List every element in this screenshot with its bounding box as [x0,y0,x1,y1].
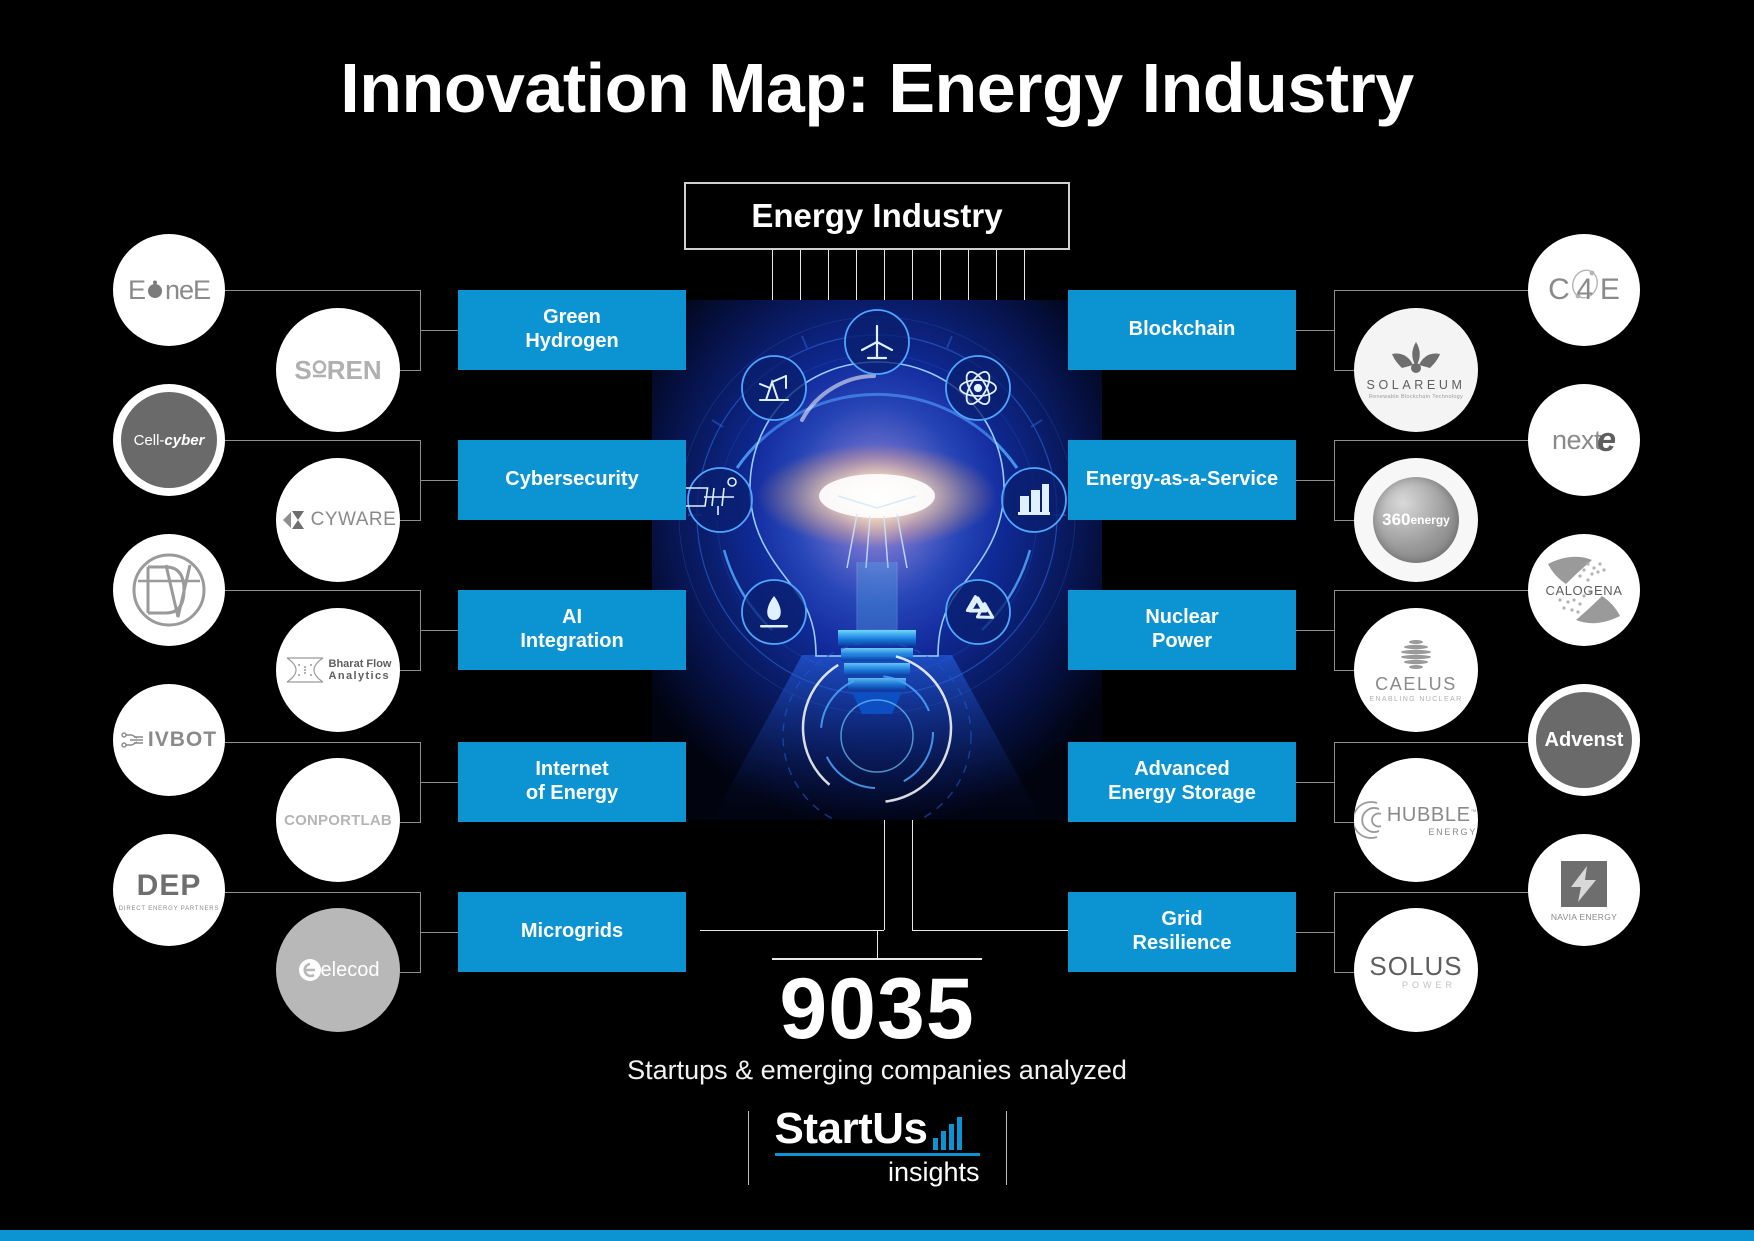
logo-text: SOLUS [1369,951,1462,982]
category-label-line2: Resilience [1133,932,1232,954]
logo-text-2: neE [165,275,210,306]
logo-text-2: energy [1411,513,1450,527]
company-logo-solareum[interactable]: SOLAREUM Renewable Blockchain Technology [1354,308,1478,432]
company-logo-elecod[interactable]: elecod [276,908,400,1032]
logo-text: elecod [321,959,380,982]
monogram-icon [126,547,212,633]
logo-text: IVBOT [148,728,217,752]
category-label-line2: Energy Storage [1108,782,1256,804]
logo-text: E [128,275,145,306]
startup-count-caption: Startups & emerging companies analyzed [0,1055,1754,1086]
logo-text: Bharat Flow [329,658,392,670]
company-logo-conportlab[interactable]: CONPORTLAB [276,758,400,882]
logo-text: Cell- [134,432,165,449]
flow-mark-icon [285,654,325,686]
category-label: Cybersecurity [505,468,638,492]
logo-text: next [1552,425,1601,456]
logo-text-2: Analytics [329,670,392,682]
category-energy-as-a-service[interactable]: Energy-as-a-Service [1068,440,1296,520]
logo-text: DEP [137,869,202,903]
brand-logo: StartUs insights [0,1108,1754,1188]
category-label: Energy-as-a-Service [1086,468,1278,492]
logo-text: NAVIA ENERGY [1551,912,1617,922]
logo-tagline: POWER [1402,980,1456,990]
category-label-line1: Nuclear [1145,606,1218,628]
category-internet-of-energy[interactable]: Internetof Energy [458,742,686,822]
logo-text-2: 4 [1576,273,1593,306]
logo-text: S [294,355,311,386]
logo-text-2: cyber [164,432,204,449]
category-label: Microgrids [521,920,623,944]
brand-name-secondary: insights [888,1157,980,1188]
dot-icon [145,280,165,300]
company-logo-cyware[interactable]: CYWARE [276,458,400,582]
company-logo-ivbot[interactable]: IVBOT [113,684,225,796]
connector [700,930,884,931]
company-logo-solus-power[interactable]: SOLUS POWER [1354,908,1478,1032]
company-logo-calogena[interactable]: CALOGENA [1528,534,1640,646]
hub-energy-industry[interactable]: Energy Industry [684,182,1070,250]
category-cybersecurity[interactable]: Cybersecurity [458,440,686,520]
company-logo-advenst[interactable]: Advenst [1528,684,1640,796]
logo-tagline: ENERGY [1387,827,1477,837]
hubble-arcs-icon [1355,799,1385,841]
brand-divider-right [1006,1111,1007,1185]
circuit-icon [121,730,145,750]
logo-text-3: E [1600,273,1620,307]
company-logo-nexte[interactable]: next e [1528,384,1640,496]
company-logo-c4e[interactable]: C 4 E [1528,234,1640,346]
company-logo-soren[interactable]: S REN [276,308,400,432]
logo-text-2: REN [327,355,382,386]
company-logo-navia-energy[interactable]: NAVIA ENERGY [1528,834,1640,946]
logo-text: SOLAREUM [1367,378,1466,392]
category-label: Blockchain [1129,318,1236,342]
logo-text: C [1548,273,1570,307]
o-mark-icon [312,358,327,382]
page-title: Innovation Map: Energy Industry [0,48,1754,128]
logo-tagline: DIRECT ENERGY PARTNERS [119,906,220,912]
company-logo-cell-cyber[interactable]: Cell-cyber [113,384,225,496]
logo-text: CALOGENA [1545,583,1622,598]
category-microgrids[interactable]: Microgrids [458,892,686,972]
category-green-hydrogen[interactable]: GreenHydrogen [458,290,686,370]
company-logo-bharat-flow-analytics[interactable]: Bharat Flow Analytics [276,608,400,732]
category-blockchain[interactable]: Blockchain [1068,290,1296,370]
solareum-leaf-icon [1390,341,1442,375]
logo-tagline: Renewable Blockchain Technology [1369,394,1463,400]
brand-divider-left [748,1111,749,1185]
logo-text: 360 [1382,510,1410,530]
category-label-line2: of Energy [526,782,618,804]
category-label-line2: Integration [520,630,623,652]
company-logo-360energy[interactable]: 360energy [1354,458,1478,582]
e-mark-icon [297,957,323,983]
category-label-line1: AI [562,606,582,628]
bar-chart-icon [933,1118,962,1150]
logo-text: HUBBLE [1387,804,1471,826]
center-lightbulb-graphic [652,300,1102,820]
hub-label: Energy Industry [751,197,1002,235]
cyware-mark-icon [280,507,310,533]
logo-text: Advenst [1545,729,1624,752]
category-grid-resilience[interactable]: GridResilience [1068,892,1296,972]
brand-name-primary: StartUs [775,1108,928,1150]
company-logo-caelus[interactable]: CAELUS ENABLING NUCLEAR [1354,608,1478,732]
company-logo-eonee[interactable]: E neE [113,234,225,346]
company-logo-dw-monogram[interactable] [113,534,225,646]
category-ai-integration[interactable]: AIIntegration [458,590,686,670]
category-label-line2: Power [1152,630,1212,652]
category-label-line2: Hydrogen [525,330,618,352]
company-logo-hubble-energy[interactable]: HUBBLE™ ENERGY [1354,758,1478,882]
category-label-line1: Advanced [1134,758,1230,780]
logo-text: CAELUS [1375,674,1457,695]
startup-count: 9035 [0,960,1754,1059]
category-label-line1: Internet [535,758,608,780]
category-label-line1: Green [543,306,601,328]
logo-text: CYWARE [311,509,397,531]
category-nuclear-power[interactable]: NuclearPower [1068,590,1296,670]
caelus-globe-icon [1396,638,1436,672]
logo-text: CONPORTLAB [284,812,392,829]
category-advanced-energy-storage[interactable]: AdvancedEnergy Storage [1068,742,1296,822]
category-label-line1: Grid [1161,908,1202,930]
company-logo-dep[interactable]: DEP DIRECT ENERGY PARTNERS [113,834,225,946]
logo-tagline: ENABLING NUCLEAR [1369,696,1462,703]
infographic-canvas: Innovation Map: Energy Industry [0,0,1754,1241]
logo-text-2: e [1597,421,1616,460]
brand-underline [775,1153,980,1156]
bottom-accent-strip [0,1230,1754,1241]
lightning-bolt-icon [1559,859,1609,909]
